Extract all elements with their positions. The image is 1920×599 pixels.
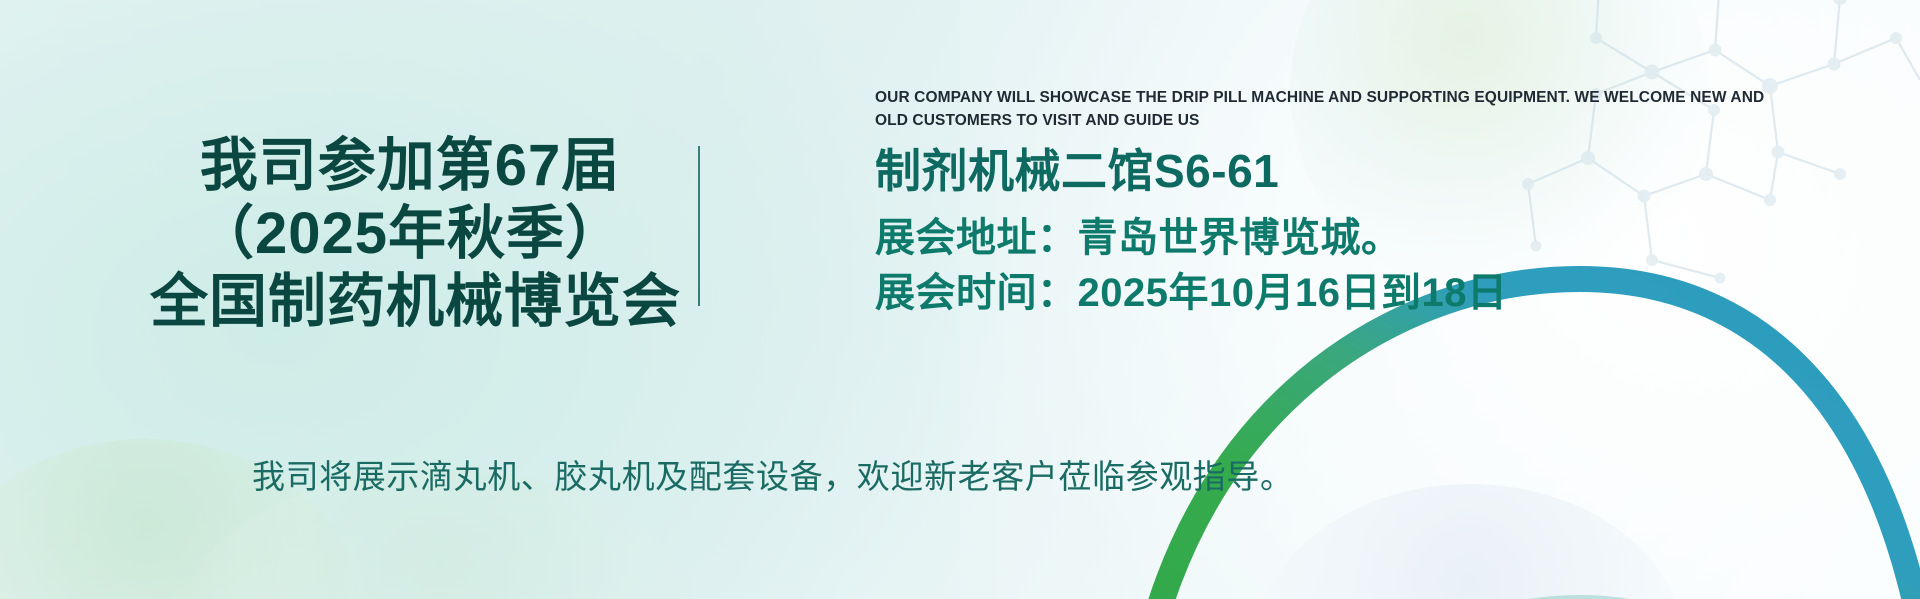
vertical-divider	[698, 146, 700, 306]
event-title-line-3: 全国制药机械博览会	[150, 268, 670, 336]
booth-location-heading: 制剂机械二馆S6-61	[875, 147, 1875, 195]
event-title-line-2: （2025年秋季）	[150, 200, 670, 268]
exhibition-banner: 我司参加第67届 （2025年秋季） 全国制药机械博览会 OUR COMPANY…	[0, 0, 1920, 599]
event-title-line-1: 我司参加第67届	[150, 132, 670, 200]
event-details-block: OUR COMPANY WILL SHOWCASE THE DRIP PILL …	[875, 86, 1875, 321]
exhibit-summary-footer: 我司将展示滴丸机、胶丸机及配套设备，欢迎新老客户莅临参观指导。	[252, 450, 1294, 498]
event-address: 展会地址：青岛世界博览城。	[875, 211, 1875, 266]
event-title-left: 我司参加第67届 （2025年秋季） 全国制药机械博览会	[150, 132, 670, 336]
english-description: OUR COMPANY WILL SHOWCASE THE DRIP PILL …	[875, 86, 1790, 133]
event-date: 展会时间：2025年10月16日到18日	[875, 266, 1875, 321]
